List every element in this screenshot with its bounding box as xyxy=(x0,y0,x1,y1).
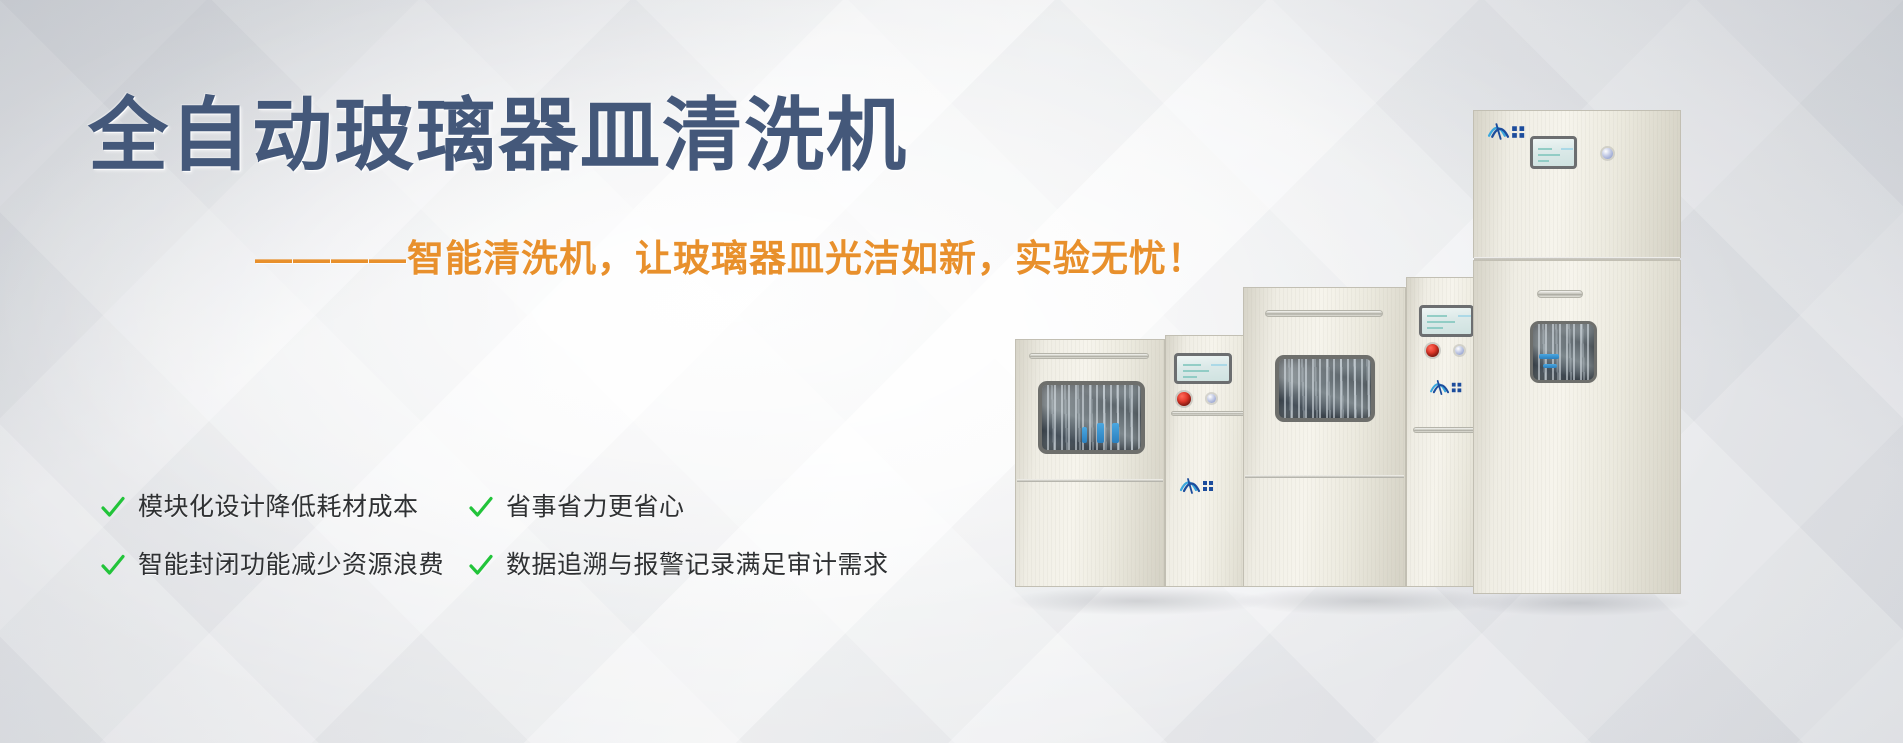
lower-cabinet xyxy=(1473,260,1681,594)
door-handle-icon xyxy=(1537,290,1583,298)
feature-list: 模块化设计降低耗材成本 省事省力更省心 智能封闭功能减少资源浪费 数据追溯与报警… xyxy=(100,478,889,594)
chamber-view-window xyxy=(1530,321,1597,383)
brand-logo-icon xyxy=(1487,122,1531,141)
list-item: 省事省力更省心 xyxy=(468,478,889,536)
emergency-stop-button[interactable] xyxy=(1177,392,1191,406)
door-seam xyxy=(1017,479,1163,482)
list-item-label: 模块化设计降低耗材成本 xyxy=(138,495,419,520)
wash-chamber-door xyxy=(1243,287,1406,587)
product-image-undercounter-washer xyxy=(1015,335,1260,605)
touchscreen-display[interactable] xyxy=(1419,305,1474,337)
rack-holder xyxy=(1539,354,1559,359)
chamber-view-window xyxy=(1275,355,1375,422)
touchscreen-display[interactable] xyxy=(1174,353,1232,384)
check-icon xyxy=(468,494,494,520)
check-icon xyxy=(100,552,126,578)
list-item-label: 省事省力更省心 xyxy=(506,495,685,520)
list-item: 数据追溯与报警记录满足审计需求 xyxy=(468,536,889,594)
rack-holder xyxy=(1097,423,1104,443)
caster-wheel xyxy=(1143,585,1159,611)
check-icon xyxy=(468,552,494,578)
glassware-rack xyxy=(1279,359,1371,418)
door-handle-icon xyxy=(1029,353,1149,359)
product-image-tall-column-washer xyxy=(1473,110,1681,608)
list-item-label: 数据追溯与报警记录满足审计需求 xyxy=(506,553,889,578)
product-image-group xyxy=(1003,0,1903,743)
power-button[interactable] xyxy=(1602,148,1613,159)
caster-wheel xyxy=(1211,585,1227,611)
glassware-rack xyxy=(1042,385,1141,450)
door-handle-icon xyxy=(1265,310,1383,317)
rack-holder xyxy=(1082,427,1087,443)
power-button[interactable] xyxy=(1455,346,1464,355)
caster-wheel xyxy=(1495,590,1511,616)
door-seam xyxy=(1245,475,1404,478)
glassware-rack xyxy=(1533,324,1594,380)
rack-holder xyxy=(1543,364,1557,368)
rack-holder xyxy=(1112,423,1119,443)
chamber-view-window xyxy=(1038,381,1145,454)
wash-chamber-door xyxy=(1015,339,1165,587)
caster-wheel xyxy=(1385,583,1401,609)
touchscreen-display[interactable] xyxy=(1530,136,1577,169)
check-icon xyxy=(100,494,126,520)
product-image-freestanding-washer xyxy=(1243,277,1491,607)
list-item-label: 智能封闭功能减少资源浪费 xyxy=(138,553,444,578)
brand-logo-icon xyxy=(1429,379,1469,396)
caster-wheel xyxy=(1265,583,1281,609)
caster-wheel xyxy=(1645,590,1661,616)
brand-logo-icon xyxy=(1179,477,1221,495)
list-item: 智能封闭功能减少资源浪费 xyxy=(100,536,468,594)
list-item: 模块化设计降低耗材成本 xyxy=(100,478,468,536)
product-hero-banner: 全自动玻璃器皿清洗机 ————智能清洗机，让玻璃器皿光洁如新，实验无忧！ 模块化… xyxy=(0,0,1903,743)
power-button[interactable] xyxy=(1207,394,1216,403)
banner-copy: 全自动玻璃器皿清洗机 ————智能清洗机，让玻璃器皿光洁如新，实验无忧！ 模块化… xyxy=(0,0,1150,743)
emergency-stop-button[interactable] xyxy=(1426,344,1439,357)
caster-wheel xyxy=(1037,585,1053,611)
page-title: 全自动玻璃器皿清洗机 xyxy=(88,96,908,176)
